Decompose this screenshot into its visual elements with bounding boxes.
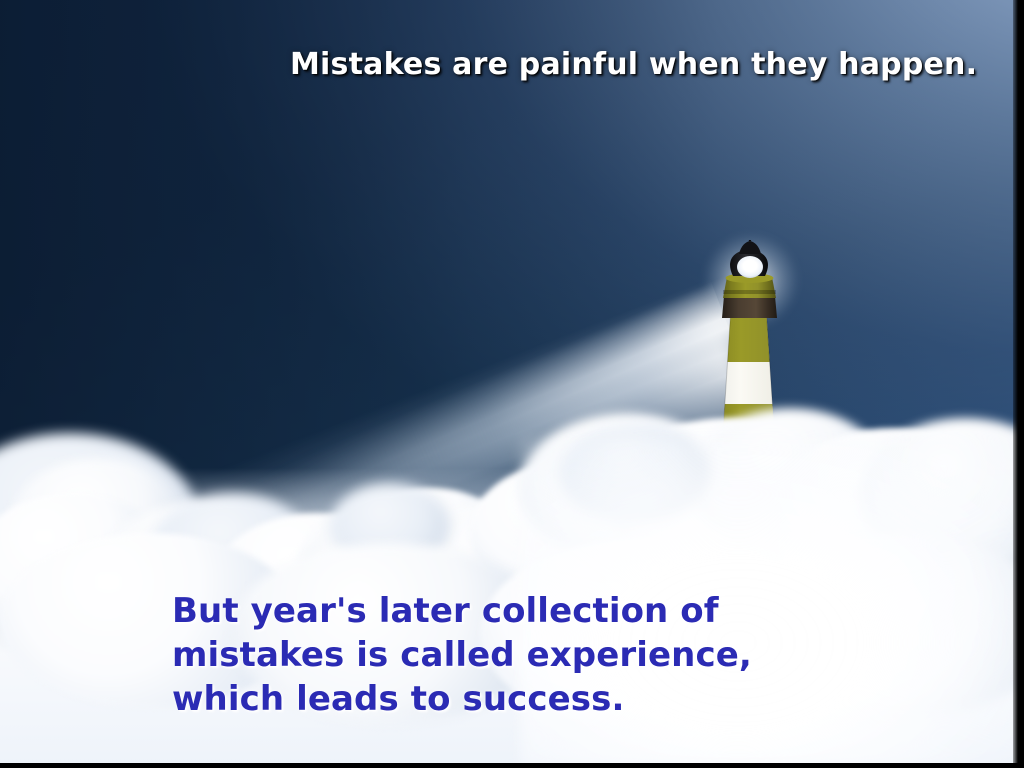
dome-cap xyxy=(739,241,761,254)
lightning-rod-icon xyxy=(749,225,750,241)
rod-tip xyxy=(747,222,752,227)
lamp-core xyxy=(743,260,757,272)
frame-right-edge xyxy=(1013,0,1024,768)
slide-title: Mistakes are painful when they happen. xyxy=(290,47,977,82)
railing-band xyxy=(722,296,777,318)
quote-line-2: mistakes is called experience, xyxy=(172,633,752,677)
frame-bottom-edge xyxy=(0,763,1024,768)
slide-canvas: Mistakes are painful when they happen. B… xyxy=(0,0,1024,768)
slide-quote: But year's later collection of mistakes … xyxy=(172,589,752,721)
gallery-rail-line xyxy=(723,290,776,294)
quote-line-3: which leads to success. xyxy=(172,677,752,721)
quote-line-1: But year's later collection of xyxy=(172,589,752,633)
